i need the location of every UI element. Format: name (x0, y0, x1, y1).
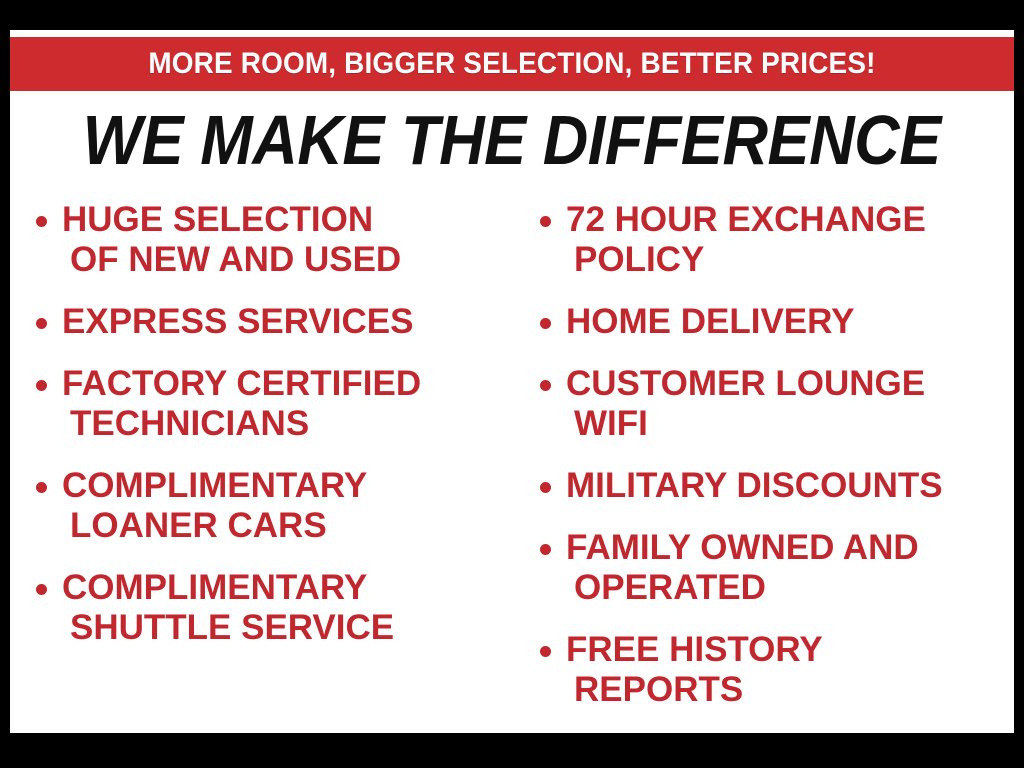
feature-bullet-item: FAMILY OWNED ANDOPERATED (530, 528, 1014, 608)
feature-bullet-line-2: POLICY (566, 240, 1014, 280)
poster-frame: MORE ROOM, BIGGER SELECTION, BETTER PRIC… (0, 0, 1024, 768)
feature-bullet-item: FACTORY CERTIFIEDTECHNICIANS (26, 364, 526, 444)
bullet-dot-icon (540, 380, 551, 391)
bullet-dot-icon (36, 482, 47, 493)
feature-bullet-text: COMPLIMENTARYSHUTTLE SERVICE (62, 568, 526, 648)
bullet-dot-icon (540, 216, 551, 227)
feature-bullet-line-2: WIFI (566, 404, 1014, 444)
feature-columns: HUGE SELECTIONOF NEW AND USEDEXPRESS SER… (10, 200, 1014, 730)
feature-bullet-item: 72 HOUR EXCHANGEPOLICY (530, 200, 1014, 280)
feature-bullet-text: FAMILY OWNED ANDOPERATED (566, 528, 1014, 608)
feature-bullet-item: COMPLIMENTARYLOANER CARS (26, 466, 526, 546)
headline-text: WE MAKE THE DIFFERENCE (83, 102, 941, 178)
feature-bullet-item: FREE HISTORYREPORTS (530, 630, 1014, 710)
bullet-dot-icon (540, 646, 551, 657)
feature-bullet-text: FACTORY CERTIFIEDTECHNICIANS (62, 364, 526, 444)
bullet-dot-icon (36, 584, 47, 595)
feature-bullet-line-1: COMPLIMENTARY (62, 568, 367, 607)
bullet-dot-icon (540, 318, 551, 329)
feature-bullet-line-2: TECHNICIANS (62, 404, 526, 444)
feature-bullet-item: HOME DELIVERY (530, 302, 1014, 342)
feature-bullet-text: 72 HOUR EXCHANGEPOLICY (566, 200, 1014, 280)
feature-list-left: HUGE SELECTIONOF NEW AND USEDEXPRESS SER… (26, 200, 526, 730)
feature-bullet-item: MILITARY DISCOUNTS (530, 466, 1014, 506)
feature-bullet-line-1: HOME DELIVERY (566, 302, 854, 341)
feature-bullet-text: COMPLIMENTARYLOANER CARS (62, 466, 526, 546)
feature-bullet-item: CUSTOMER LOUNGEWIFI (530, 364, 1014, 444)
feature-bullet-text: MILITARY DISCOUNTS (566, 466, 1014, 506)
feature-bullet-line-2: LOANER CARS (62, 506, 526, 546)
feature-bullet-line-2: REPORTS (566, 670, 1014, 710)
feature-list-right: 72 HOUR EXCHANGEPOLICYHOME DELIVERYCUSTO… (530, 200, 1014, 730)
feature-bullet-line-1: FACTORY CERTIFIED (62, 364, 421, 403)
bullet-dot-icon (36, 216, 47, 227)
bullet-dot-icon (36, 380, 47, 391)
feature-bullet-line-1: CUSTOMER LOUNGE (566, 364, 925, 403)
feature-bullet-line-1: EXPRESS SERVICES (62, 302, 413, 341)
feature-bullet-line-2: SHUTTLE SERVICE (62, 608, 526, 648)
feature-bullet-item: EXPRESS SERVICES (26, 302, 526, 342)
feature-bullet-line-2: OPERATED (566, 568, 1014, 608)
feature-bullet-line-1: HUGE SELECTION (62, 200, 373, 239)
feature-bullet-text: HUGE SELECTIONOF NEW AND USED (62, 200, 526, 280)
sign-panel: MORE ROOM, BIGGER SELECTION, BETTER PRIC… (10, 30, 1014, 733)
feature-bullet-line-1: 72 HOUR EXCHANGE (566, 200, 926, 239)
feature-bullet-item: HUGE SELECTIONOF NEW AND USED (26, 200, 526, 280)
feature-bullet-item: COMPLIMENTARYSHUTTLE SERVICE (26, 568, 526, 648)
headline: WE MAKE THE DIFFERENCE (10, 102, 1014, 178)
promo-banner: MORE ROOM, BIGGER SELECTION, BETTER PRIC… (10, 37, 1014, 91)
bullet-dot-icon (540, 544, 551, 555)
feature-bullet-line-2: OF NEW AND USED (62, 240, 526, 280)
promo-banner-text: MORE ROOM, BIGGER SELECTION, BETTER PRIC… (148, 47, 875, 81)
feature-bullet-line-1: MILITARY DISCOUNTS (566, 466, 943, 505)
feature-bullet-text: FREE HISTORYREPORTS (566, 630, 1014, 710)
feature-bullet-text: EXPRESS SERVICES (62, 302, 526, 342)
bullet-dot-icon (540, 482, 551, 493)
feature-bullet-line-1: COMPLIMENTARY (62, 466, 367, 505)
feature-bullet-text: HOME DELIVERY (566, 302, 1014, 342)
feature-bullet-line-1: FREE HISTORY (566, 630, 823, 669)
bullet-dot-icon (36, 318, 47, 329)
feature-bullet-line-1: FAMILY OWNED AND (566, 528, 919, 567)
feature-bullet-text: CUSTOMER LOUNGEWIFI (566, 364, 1014, 444)
